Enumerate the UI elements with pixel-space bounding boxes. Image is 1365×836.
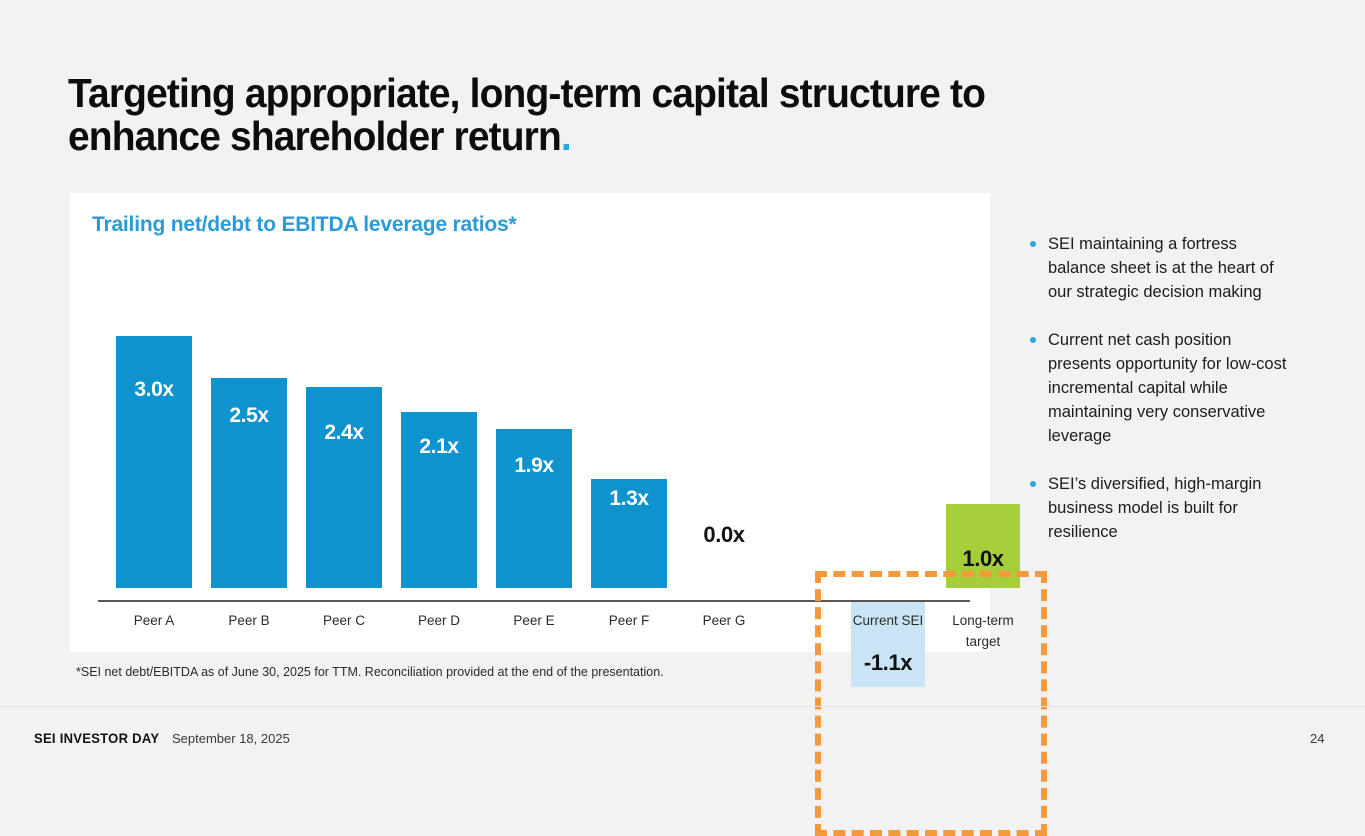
long-term-target-line-2: target [966, 634, 1001, 649]
page-number: 24 [1310, 731, 1324, 746]
footer-date: September 18, 2025 [172, 731, 290, 746]
bar-value-peer-f: 1.3x [591, 487, 667, 511]
title-line-1: Targeting appropriate, long-term capital… [68, 70, 985, 116]
bullet-dot-icon [1030, 241, 1036, 247]
chart-card: Trailing net/debt to EBITDA leverage rat… [70, 193, 990, 652]
footer-divider [0, 706, 1365, 707]
category-label-peer-c: Peer C [306, 610, 382, 631]
bar-value-peer-g: 0.0x [686, 522, 762, 548]
key-points-list: SEI maintaining a fortress balance sheet… [1028, 232, 1296, 568]
bullet-dot-icon [1030, 337, 1036, 343]
footer-brand: SEI INVESTOR DAY [34, 730, 159, 746]
list-item-text: SEI maintaining a fortress balance sheet… [1048, 235, 1274, 301]
bar-chart-plot-area: 3.0x 2.5x 2.4x 2.1x 1.9x 1.3x 0.0x -1.1x… [98, 258, 970, 588]
category-label-current-sei: Current SEI [846, 610, 930, 631]
bar-value-peer-e: 1.9x [496, 454, 572, 478]
category-label-long-term-target: Long-termtarget [941, 610, 1025, 652]
bar-peer-a[interactable] [116, 336, 192, 588]
list-item-text: SEI’s diversified, high-margin business … [1048, 475, 1261, 541]
bar-peer-c[interactable] [306, 387, 382, 588]
page-title: Targeting appropriate, long-term capital… [68, 72, 1132, 158]
title-line-2: enhance shareholder return [68, 113, 561, 159]
title-accent-period: . [561, 113, 571, 159]
list-item: SEI’s diversified, high-margin business … [1028, 472, 1296, 544]
bar-value-peer-a: 3.0x [116, 378, 192, 402]
category-label-peer-e: Peer E [496, 610, 572, 631]
bar-value-peer-c: 2.4x [306, 421, 382, 445]
slide: Targeting appropriate, long-term capital… [0, 0, 1365, 768]
bar-value-peer-b: 2.5x [211, 404, 287, 428]
category-label-peer-d: Peer D [401, 610, 477, 631]
chart-title: Trailing net/debt to EBITDA leverage rat… [92, 213, 517, 237]
bar-value-peer-d: 2.1x [401, 435, 477, 459]
bullet-dot-icon [1030, 481, 1036, 487]
list-item: Current net cash position presents oppor… [1028, 328, 1296, 448]
category-label-peer-a: Peer A [116, 610, 192, 631]
bar-value-long-term-target: 1.0x [946, 546, 1020, 572]
category-label-peer-g: Peer G [686, 610, 762, 631]
category-label-peer-b: Peer B [211, 610, 287, 631]
category-label-peer-f: Peer F [591, 610, 667, 631]
bar-peer-e[interactable] [496, 429, 572, 588]
chart-footnote: *SEI net debt/EBITDA as of June 30, 2025… [76, 665, 664, 679]
long-term-target-line-1: Long-term [952, 613, 1014, 628]
list-item: SEI maintaining a fortress balance sheet… [1028, 232, 1296, 304]
list-item-text: Current net cash position presents oppor… [1048, 331, 1286, 445]
